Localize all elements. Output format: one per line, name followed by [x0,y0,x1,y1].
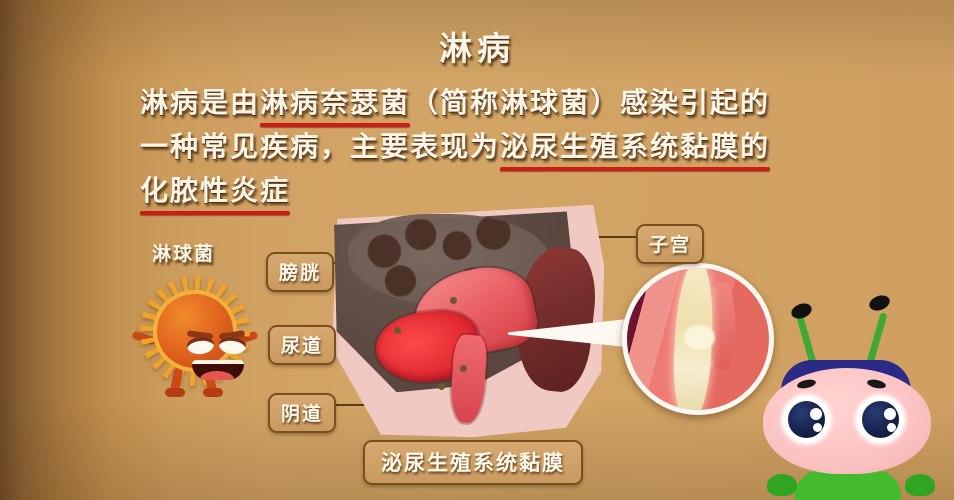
label-uterus[interactable]: 子宫 [636,224,704,264]
slide-canvas: 淋病 淋病是由淋病奈瑟菌（简称淋球菌）感染引起的 一种常见疾病，主要表现为泌尿生… [0,0,954,500]
mascot-eye-glint [887,423,896,432]
page-title: 淋病 [0,22,954,70]
label-bladder[interactable]: 膀胱 [266,252,334,292]
line3-underlined-term: 化脓性炎症 [140,170,290,214]
label-vagina[interactable]: 阴道 [268,393,336,433]
mascot-eye-glint [884,408,896,420]
marker-dot [394,327,401,334]
line2-prefix: 一种常见疾病，主要表现为 [140,132,500,163]
paragraph-line-1: 淋病是由淋病奈瑟菌（简称淋球菌）感染引起的 [140,82,770,126]
gonococcus-character [134,272,256,396]
anatomy-diagram [332,205,604,437]
line1-prefix: 淋病是由 [140,88,260,119]
germ-tongue [200,371,234,380]
paragraph-line-2: 一种常见疾病，主要表现为泌尿生殖系统黏膜的 [140,126,770,170]
mascot-body [795,470,901,500]
body-paragraph: 淋病是由淋病奈瑟菌（简称淋球菌）感染引起的 一种常见疾病，主要表现为泌尿生殖系统… [140,82,770,214]
label-urethra[interactable]: 尿道 [268,325,336,365]
germ-mouth [192,360,244,380]
germ-foot-left [165,388,185,397]
mascot-eye-glint [810,408,822,420]
line1-suffix: （简称淋球菌）感染引起的 [410,88,770,119]
mascot-pupil-right [862,401,899,438]
marker-dot [460,365,467,372]
label-urogenital-mucosa[interactable]: 泌尿生殖系统黏膜 [363,440,583,485]
mascot-hand-right [905,474,935,496]
mucosa-fold [709,282,735,370]
mascot-eye-left [783,396,830,443]
mascot-eye-glint [813,423,822,432]
mascot-eye-right [857,396,904,443]
germ-foot-right [203,388,223,397]
germ-eye-left [186,336,215,356]
mascot-hand-left [767,474,797,496]
mascot-pupil-left [788,401,825,438]
marker-dot [438,383,445,390]
mascot-antenna-tip-left [789,301,814,321]
germ-body [153,290,237,372]
line1-underlined-term: 淋病奈瑟菌 [260,82,410,126]
label-gonococcus: 淋球菌 [152,239,215,266]
bug-mascot [745,288,954,500]
line2-underlined-term: 泌尿生殖系统黏膜的 [500,126,770,170]
paragraph-line-3: 化脓性炎症 [140,170,770,214]
marker-dot [450,297,457,304]
mascot-antenna-tip-right [867,293,892,313]
